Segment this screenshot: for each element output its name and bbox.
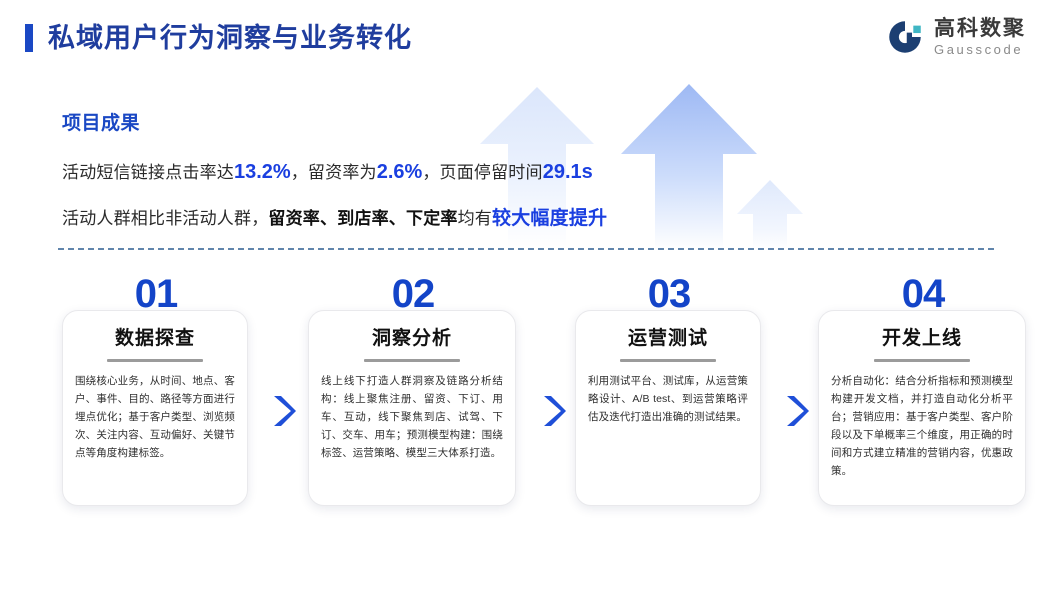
metric-click-rate: 13.2% [234, 161, 291, 183]
section-divider [58, 248, 994, 250]
results-line2-text1: 活动人群相比非活动人群， [62, 209, 268, 228]
step-number-04: 04 [819, 273, 1027, 315]
results-heading: 项目成果 [62, 108, 762, 135]
step-card-02[interactable]: 02 洞察分析 线上线下打造人群洞察及链路分析结构：线上聚焦注册、留资、下订、用… [308, 310, 516, 506]
step-rule-04 [874, 359, 970, 362]
step-rule-01 [107, 359, 203, 362]
results-line-1: 活动短信链接点击率达13.2%，留资率为2.6%，页面停留时间29.1s [62, 157, 762, 188]
step-number-03: 03 [576, 273, 762, 315]
metric-dwell-time: 29.1s [543, 161, 593, 183]
step-body-02: 线上线下打造人群洞察及链路分析结构：线上聚焦注册、留资、下订、用车、互动，线下聚… [321, 372, 503, 462]
results-line2-text2: 均有 [458, 209, 492, 228]
step-card-01[interactable]: 01 数据探查 围绕核心业务，从时间、地点、客户、事件、目的、路径等方面进行埋点… [62, 310, 248, 506]
step-number-02: 02 [309, 273, 517, 315]
step-rule-02 [364, 359, 460, 362]
results-line1-text1: 活动短信链接点击率达 [62, 163, 234, 182]
results-section: 项目成果 活动短信链接点击率达13.2%，留资率为2.6%，页面停留时间29.1… [62, 108, 762, 249]
header: 私域用户行为洞察与业务转化 高科数聚 Gausscode [0, 0, 1048, 78]
chevron-right-icon-1 [271, 394, 297, 428]
results-line-2: 活动人群相比非活动人群，留资率、到店率、下定率均有较大幅度提升 [62, 204, 762, 233]
slide-root: 私域用户行为洞察与业务转化 高科数聚 Gausscode 项目成果 活动短信链接… [0, 0, 1048, 591]
brand-logo: 高科数聚 Gausscode [884, 16, 1026, 58]
step-body-01: 围绕核心业务，从时间、地点、客户、事件、目的、路径等方面进行埋点优化；基于客户类… [75, 372, 235, 462]
gausscode-logo-icon [884, 16, 926, 58]
logo-text-cn: 高科数聚 [934, 18, 1026, 39]
results-line1-text3: ，页面停留时间 [422, 163, 542, 182]
step-title-03: 运营测试 [588, 327, 748, 351]
step-number-01: 01 [63, 273, 249, 315]
results-line2-bold1: 留资率、到店率、下定率 [268, 209, 457, 228]
results-line2-bold2: 较大幅度提升 [492, 208, 607, 229]
step-card-03[interactable]: 03 运营测试 利用测试平台、测试库，从运营策略设计、A/B test、到运营策… [575, 310, 761, 506]
chevron-right-icon-3 [784, 394, 810, 428]
results-line1-text2: ，留资率为 [291, 163, 377, 182]
steps-row: 01 数据探查 围绕核心业务，从时间、地点、客户、事件、目的、路径等方面进行埋点… [56, 272, 1000, 532]
metric-lead-rate: 2.6% [377, 161, 423, 183]
page-title: 私域用户行为洞察与业务转化 [48, 18, 412, 58]
step-card-04[interactable]: 04 开发上线 分析自动化：结合分析指标和预测模型构建开发文档，并打造自动化分析… [818, 310, 1026, 506]
step-rule-03 [620, 359, 716, 362]
step-body-03: 利用测试平台、测试库，从运营策略设计、A/B test、到运营策略评估及迭代打造… [588, 372, 748, 426]
step-title-01: 数据探查 [75, 327, 235, 351]
logo-wordmark: 高科数聚 Gausscode [934, 18, 1026, 56]
step-title-04: 开发上线 [831, 327, 1013, 351]
logo-text-en: Gausscode [934, 43, 1026, 56]
step-title-02: 洞察分析 [321, 327, 503, 351]
step-body-04: 分析自动化：结合分析指标和预测模型构建开发文档，并打造自动化分析平台；营销应用：… [831, 372, 1013, 480]
title-accent-bar [25, 24, 33, 52]
chevron-right-icon-2 [541, 394, 567, 428]
